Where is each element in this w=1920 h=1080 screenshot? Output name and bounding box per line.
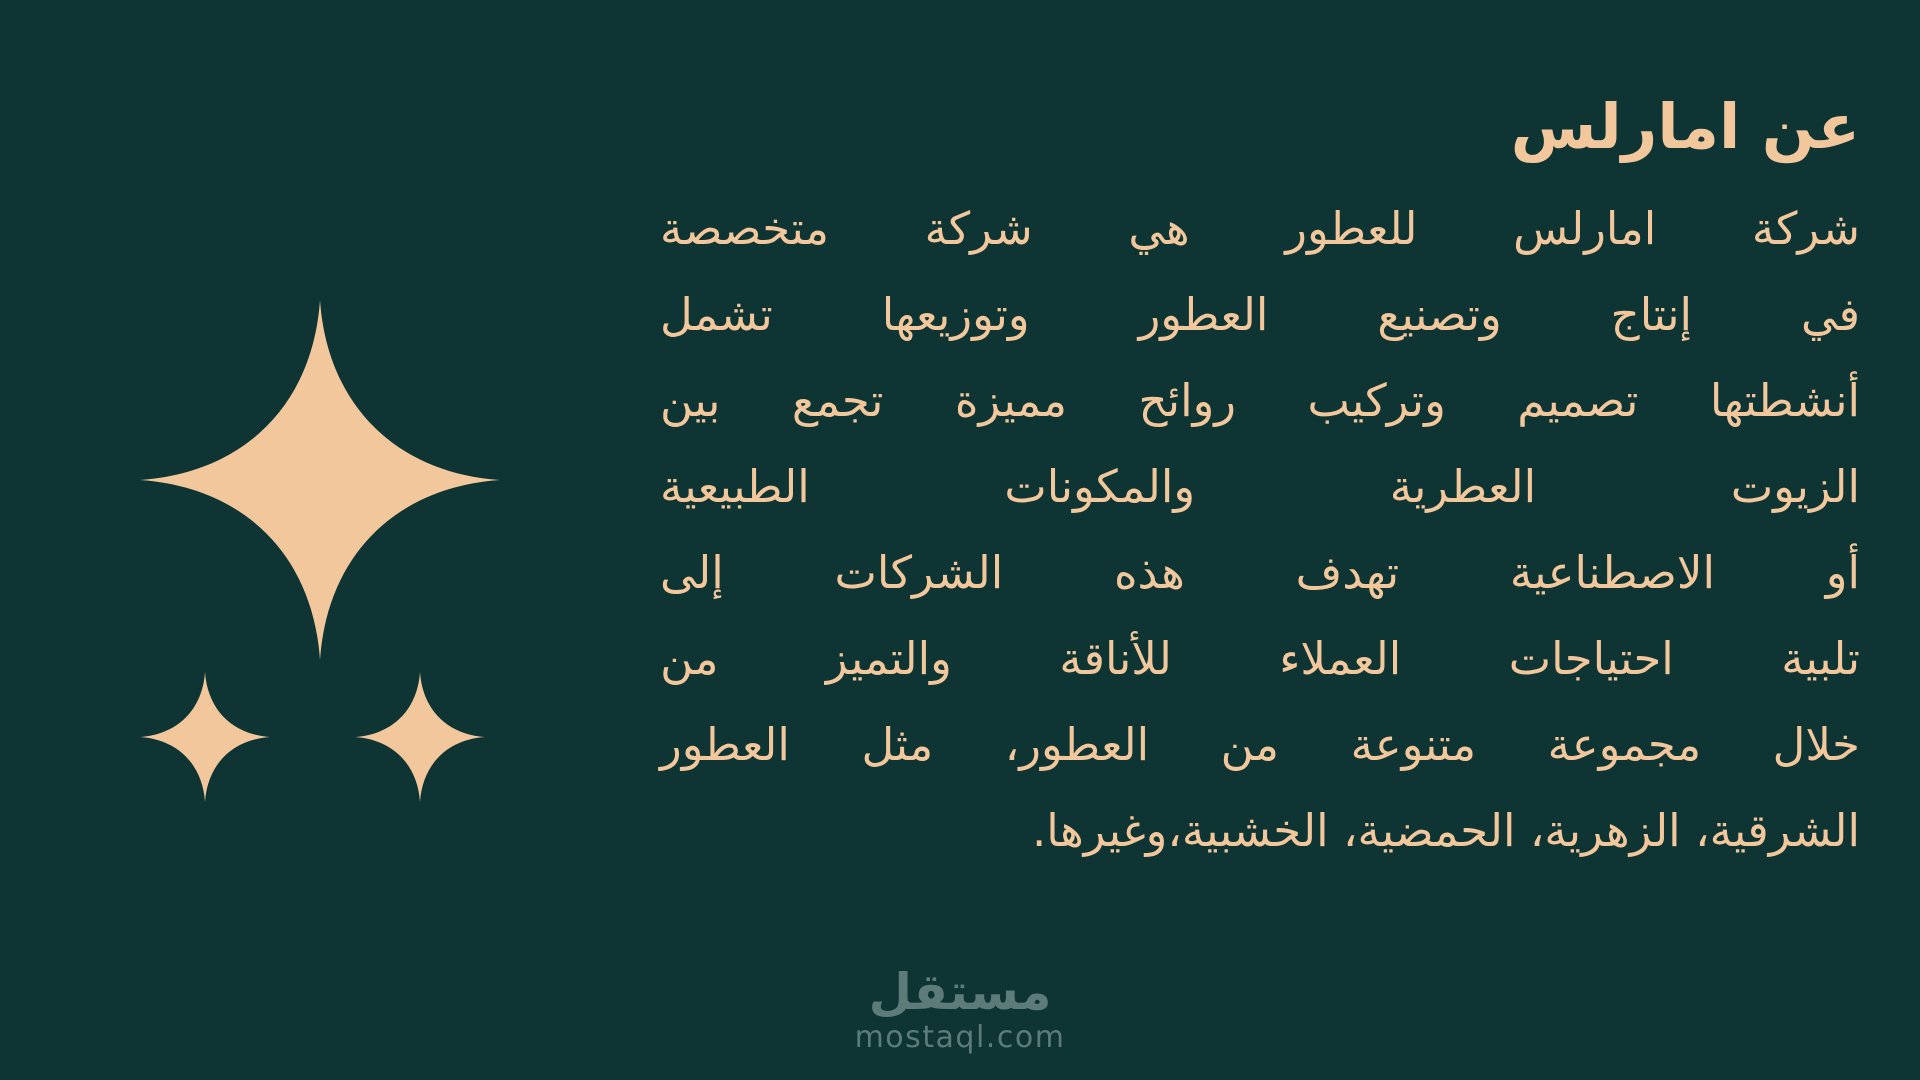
watermark-domain-text: mostaql.com — [855, 1019, 1066, 1057]
body-word: تجمع — [792, 358, 884, 444]
body-line: شركةامارلسللعطورهيشركةمتخصصة — [660, 186, 1860, 272]
body-word: أنشطتها — [1710, 358, 1860, 444]
body-word: هي — [1128, 186, 1189, 272]
body-word: احتياجات — [1509, 616, 1674, 702]
body-word: من — [660, 616, 718, 702]
body-word: وتوزيعها — [882, 272, 1030, 358]
body-line: أوالاصطناعيةتهدفهذهالشركاتإلى — [660, 530, 1860, 616]
body-line: فيإنتاجوتصنيعالعطوروتوزيعهاتشمل — [660, 272, 1860, 358]
body-line: تلبيةاحتياجاتالعملاءللأناقةوالتميزمن — [660, 616, 1860, 702]
body-word: للأناقة — [1059, 616, 1171, 702]
body-word: للعطور — [1285, 186, 1417, 272]
body-word: في — [1801, 272, 1860, 358]
body-word: العطرية — [1390, 444, 1536, 530]
body-word: مجموعة — [1548, 702, 1701, 788]
body-word: الحمضية، — [1343, 788, 1516, 874]
watermark-arabic-text: مستقل — [855, 966, 1066, 1019]
body-word: مثل — [861, 702, 933, 788]
body-word: إنتاج — [1611, 272, 1692, 358]
body-word: من — [1221, 702, 1279, 788]
four-point-sparkle-icon — [140, 300, 500, 660]
four-point-sparkle-icon — [140, 672, 270, 802]
body-word: وتصنيع — [1377, 272, 1501, 358]
slide-root: عن امارلس شركةامارلسللعطورهيشركةمتخصصة ف… — [0, 0, 1920, 1080]
body-line: الزيوتالعطريةوالمكوناتالطبيعية — [660, 444, 1860, 530]
body-word: وتركيب — [1308, 358, 1446, 444]
body-word: شركة — [925, 186, 1033, 272]
body-word: تهدف — [1296, 530, 1400, 616]
body-word: والمكونات — [1004, 444, 1195, 530]
body-word: الزهرية، — [1530, 788, 1681, 874]
body-line: الشرقية،الزهرية،الحمضية،الخشبية،وغيرها. — [660, 788, 1860, 874]
body-word: روائح — [1139, 358, 1237, 444]
body-word: الطبيعية — [660, 444, 810, 530]
four-point-sparkle-icon — [355, 672, 485, 802]
body-word: متخصصة — [660, 186, 829, 272]
body-word: بين — [660, 358, 720, 444]
body-word: العطور — [1139, 272, 1269, 358]
about-section: عن امارلس شركةامارلسللعطورهيشركةمتخصصة ف… — [660, 96, 1860, 874]
body-word: شركة — [1752, 186, 1860, 272]
body-word: إلى — [660, 530, 724, 616]
body-word: أو — [1826, 530, 1860, 616]
body-word: العطور — [660, 702, 790, 788]
body-word: متنوعة — [1351, 702, 1477, 788]
decorative-sparkle-group — [0, 0, 620, 1080]
body-word: هذه — [1114, 530, 1185, 616]
body-word: خلال — [1773, 702, 1860, 788]
body-word: الخشبية،وغيرها. — [1032, 788, 1329, 874]
body-word: تشمل — [660, 272, 773, 358]
body-word: العملاء — [1279, 616, 1401, 702]
body-line: أنشطتهاتصميموتركيبروائحمميزةتجمعبين — [660, 358, 1860, 444]
body-line: خلالمجموعةمتنوعةمنالعطور،مثلالعطور — [660, 702, 1860, 788]
body-word: العطور، — [1005, 702, 1149, 788]
page-title: عن امارلس — [660, 96, 1860, 158]
body-word: الاصطناعية — [1510, 530, 1715, 616]
body-word: امارلس — [1513, 186, 1656, 272]
about-body-text: شركةامارلسللعطورهيشركةمتخصصة فيإنتاجوتصن… — [660, 186, 1860, 874]
body-word: الشرقية، — [1695, 788, 1860, 874]
body-word: تلبية — [1781, 616, 1860, 702]
body-word: تصميم — [1517, 358, 1638, 444]
body-word: الزيوت — [1731, 444, 1860, 530]
mostaql-watermark: مستقل mostaql.com — [855, 966, 1066, 1056]
body-word: الشركات — [835, 530, 1004, 616]
body-word: والتميز — [826, 616, 952, 702]
body-word: مميزة — [955, 358, 1067, 444]
